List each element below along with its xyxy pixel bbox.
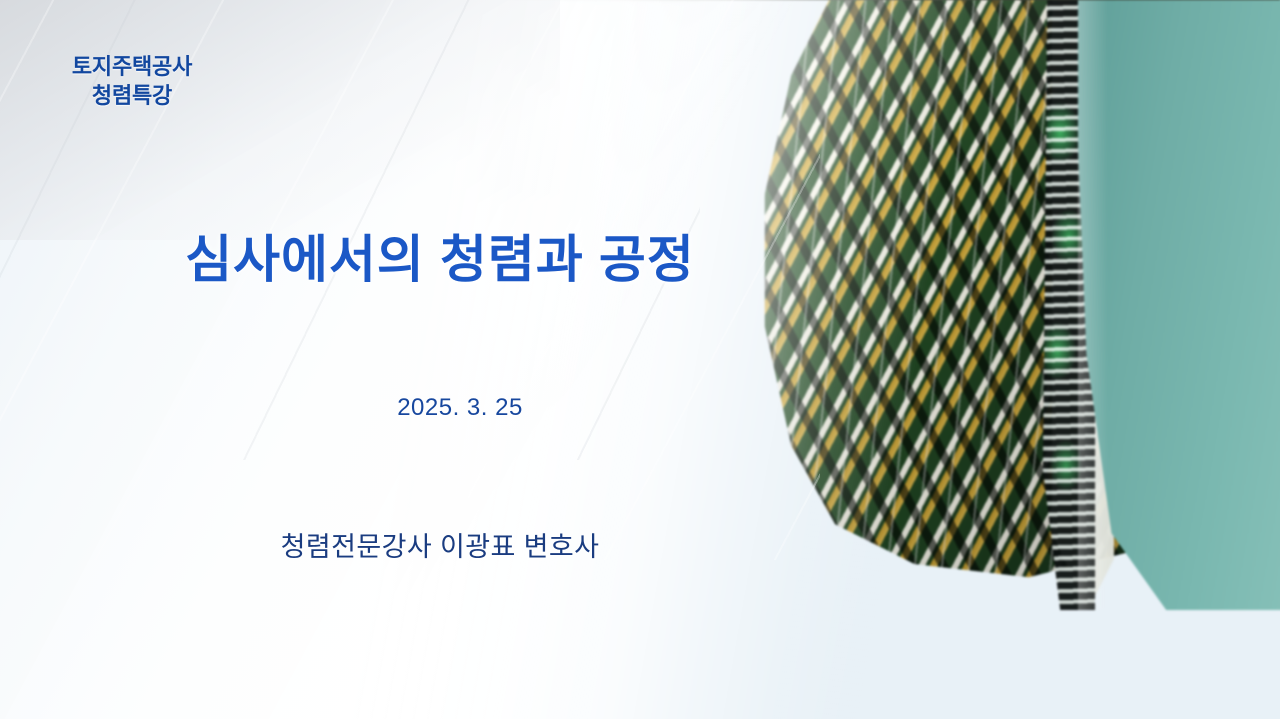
page-title: 심사에서의 청렴과 공정: [0, 218, 880, 292]
presenter-name: 청렴전문강사 이광표 변호사: [0, 525, 880, 564]
organization-line-2: 청렴특강: [0, 82, 264, 111]
slide-date: 2025. 3. 25: [0, 394, 920, 422]
organization-header: 토지주택공사 청렴특강: [0, 53, 264, 110]
organization-line-1: 토지주택공사: [72, 54, 192, 79]
presentation-slide: 토지주택공사 청렴특강 심사에서의 청렴과 공정 2025. 3. 25 청렴전…: [0, 0, 1280, 719]
